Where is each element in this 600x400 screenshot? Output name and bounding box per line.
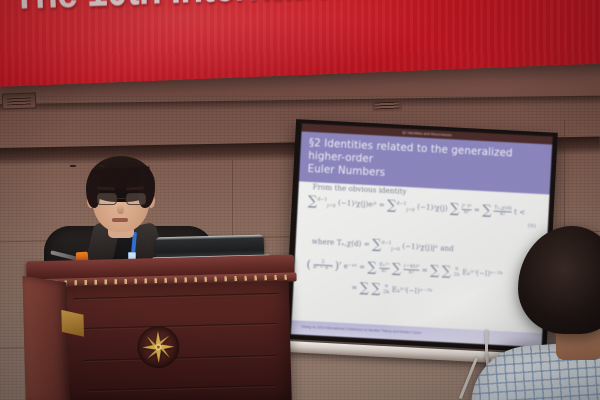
lectern-podium — [26, 254, 298, 400]
where-sum-lower: j=0 — [391, 247, 400, 252]
speaker-eye-left — [70, 165, 76, 167]
eq10b-binomial: n 2k — [383, 284, 390, 295]
eq9-sum2-lower: j=0 — [406, 208, 415, 213]
eq10-fraction-1: Eₙ⁽ʳ⁾ n! — [379, 262, 390, 274]
eq9-term-1: (−1)ʲχ(j)eʲᵗ — [338, 199, 377, 209]
eq9-equals-2: = — [474, 206, 480, 214]
ceiling-fixture — [372, 99, 402, 111]
eyeglass-bridge — [117, 198, 126, 199]
eq10-binomial: n 2k — [453, 267, 460, 278]
podium-panel-line-3 — [83, 355, 277, 362]
eq9-sum1-lower: j=0 — [327, 204, 336, 209]
where-sum: ∑ — [372, 237, 382, 252]
eq9-tail: t < — [514, 208, 526, 217]
eq9-equals-1: = — [379, 201, 385, 209]
eq9-fraction-1: jⁿ tⁿ n! — [461, 204, 472, 216]
podium-panel-line-4 — [87, 385, 275, 392]
eq10-fraction-main: 2 eᵗ − e⁻ᵗ — [313, 259, 333, 271]
starburst-icon — [141, 330, 176, 365]
eq10-equals-1: = — [359, 263, 365, 271]
eq10-binom-bot: 2k — [453, 272, 460, 278]
eq10-sum-1: ∑ — [367, 260, 377, 275]
eq10-frac1-den: n! — [379, 269, 390, 275]
eq9-frac1-den: n! — [461, 210, 471, 216]
eq10b-sum-1: ∑ — [359, 281, 369, 296]
eq9-term-2: (−1)ʲχ(j) — [417, 203, 448, 213]
podium-panel-line-1 — [73, 293, 279, 300]
wall-vent — [2, 92, 37, 109]
podium-side-panel — [22, 276, 70, 400]
podium-front-panel — [33, 281, 292, 400]
eq10-sum-2: ∑ — [392, 261, 402, 276]
eq9-sum-2: ∑ — [387, 198, 397, 213]
podium-emblem — [137, 326, 180, 369]
eq10b-equals: = — [351, 284, 357, 292]
audience-member — [492, 226, 600, 400]
podium-panel-line-2 — [78, 323, 278, 330]
where-label: where Tₙ,χ(d) = — [312, 238, 370, 249]
eq9-sum1-upper: d−1 — [317, 198, 327, 204]
eq10-frac2-den: n! — [403, 270, 419, 276]
speaker-mouth — [112, 218, 128, 222]
eq9-frac2-den: n! — [494, 212, 512, 218]
eyeglass-lens-right — [126, 193, 146, 205]
where-body: (−1)ʲχ(j)jⁿ and — [402, 242, 454, 253]
eq10-fraction-2: (−kt)ⁿ n! — [403, 264, 419, 276]
where-sum-upper: d−1 — [381, 241, 391, 247]
eq10-equals-2: = — [422, 266, 428, 274]
eq10b-tail: Eₖ⁽ʳ⁾(−l)ⁿ⁻²ᵏ — [392, 286, 433, 296]
eq9-sum-3: ∑ — [450, 201, 460, 216]
eq10b-sum-2: ∑ — [371, 281, 381, 296]
eq10-exp: e⁻ˣᵗ — [344, 262, 357, 271]
eq9-sum2-upper: d−1 — [396, 202, 406, 208]
eyeglass-lens-left — [97, 193, 117, 205]
eq10-sum-4: ∑ — [441, 264, 451, 279]
eq10b-binom-bot: 2k — [383, 289, 390, 295]
eq9-fraction-2: Tₙ,χ(d) n! — [494, 205, 512, 217]
eq9-sum-4: ∑ — [482, 203, 492, 218]
eq10-frac-den: eᵗ − e⁻ᵗ — [313, 265, 332, 271]
eq10-power: r — [339, 262, 342, 267]
wall-seam-vertical-right — [564, 120, 565, 240]
eq10-sum-3: ∑ — [430, 263, 440, 278]
speaker-nose — [117, 204, 124, 214]
eq10-paren-open: ( — [306, 258, 311, 271]
audience-hair — [518, 226, 600, 334]
conference-photo-scene: The 10th International Conference on §2 … — [0, 0, 600, 400]
